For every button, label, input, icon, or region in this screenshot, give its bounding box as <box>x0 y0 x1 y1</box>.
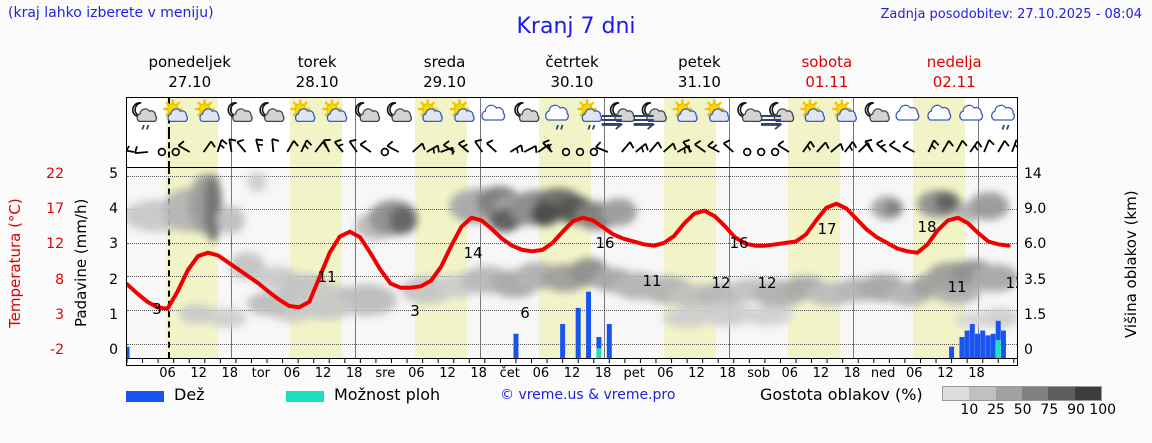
wind-barb <box>272 139 279 152</box>
x-axis-label-23: ned <box>871 366 896 381</box>
wind-barb <box>350 140 357 152</box>
temperature-point-label: 16 <box>729 234 748 252</box>
wind-barb <box>510 145 522 153</box>
day-name: nedelja <box>891 52 1018 72</box>
x-axis-label-17: 12 <box>688 366 705 381</box>
day-name: torek <box>253 52 380 72</box>
wind-barb <box>890 141 901 152</box>
cloud-density-field <box>127 172 1018 328</box>
weather-icon-sun-cloud-rain <box>577 99 601 129</box>
weather-icon-sun-cloud <box>673 99 697 121</box>
meteogram-plot: 311314616111612171218111612 <box>126 167 1018 359</box>
weather-icon-cloud <box>928 105 951 120</box>
wind-barb <box>650 142 662 152</box>
temperature-point-label: 18 <box>917 218 936 236</box>
x-axis-label-2: 18 <box>221 366 238 381</box>
x-axis-label-6: 18 <box>346 366 363 381</box>
temperature-point-label: 3 <box>152 300 162 318</box>
x-axis-label-19: sob <box>747 366 770 381</box>
temperature-point-label: 11 <box>642 272 661 290</box>
wind-barb <box>817 142 829 152</box>
weather-icon-cloud-rain <box>546 105 569 129</box>
weather-icon-moon-cloud <box>388 103 412 122</box>
weather-icon-sun-cloud <box>291 99 315 121</box>
day-date: 28.10 <box>253 72 380 92</box>
weather-icon-cloud <box>960 105 983 120</box>
wind-barb <box>778 141 789 152</box>
wind-barb <box>956 141 967 152</box>
temperature-point-label: 16 <box>595 234 614 252</box>
showers-legend-swatch <box>286 391 324 402</box>
weather-icon-cloud <box>482 105 505 120</box>
wind-barb <box>772 149 779 156</box>
wind-barb <box>622 142 634 152</box>
day-header-petek: petek31.10 <box>636 52 763 96</box>
day-date: 01.11 <box>763 72 890 92</box>
chart-svg: 311314616111612171218111612 <box>127 168 1018 359</box>
precip-tick-1: 4 <box>102 201 118 217</box>
wind-barb <box>865 140 872 152</box>
x-axis-label-8: 06 <box>408 366 425 381</box>
weather-icon-moon-cloud <box>515 103 539 122</box>
day-header-torek: torek28.10 <box>253 52 380 96</box>
x-axis-label-21: 12 <box>813 366 830 381</box>
day-date: 30.10 <box>508 72 635 92</box>
x-axis-label-14: 18 <box>595 366 612 381</box>
weather-icon-sun-cloud <box>832 99 856 121</box>
temperature-point-label: 14 <box>463 244 482 262</box>
wind-barb <box>427 146 439 154</box>
weather-icon-moon-cloud <box>228 103 252 122</box>
day-name: sreda <box>381 52 508 72</box>
wind-barb-row <box>126 133 1018 167</box>
wind-barb <box>487 140 497 152</box>
precipitation-axis-title: Padavine (mm/h) <box>72 178 98 348</box>
wind-barb <box>845 142 857 152</box>
weather-icon-moon-cloud <box>260 103 284 122</box>
day-header-četrtek: četrtek30.10 <box>508 52 635 96</box>
wind-barb <box>127 144 134 152</box>
weather-icon-moon-cloud-fog <box>602 103 635 129</box>
wind-barb <box>998 141 1009 152</box>
wind-barb <box>256 139 263 152</box>
x-axis-label-24: 06 <box>906 366 923 381</box>
rain-legend-label: Dež <box>174 385 205 404</box>
wind-barb <box>758 149 765 156</box>
day-name: ponedeljek <box>126 52 253 72</box>
wind-barb <box>577 149 584 156</box>
wind-barb <box>724 140 734 152</box>
day-header-sreda: sreda29.10 <box>381 52 508 96</box>
x-axis-label-10: 18 <box>470 366 487 381</box>
wind-barb <box>744 149 751 156</box>
x-axis-label-13: 12 <box>564 366 581 381</box>
legend: Dež Možnost ploh © vreme.us & vreme.pro … <box>126 385 1146 421</box>
wind-barb <box>178 141 189 152</box>
last-update-text: Zadnja posodobitev: 27.10.2025 - 08:04 <box>880 7 1142 22</box>
day-name: četrtek <box>508 52 635 72</box>
day-name: sobota <box>763 52 890 72</box>
day-date: 27.10 <box>126 72 253 92</box>
wind-barb <box>381 149 388 156</box>
x-axis-label-7: sre <box>375 366 395 381</box>
x-axis-label-18: 18 <box>719 366 736 381</box>
x-axis-label-9: 12 <box>439 366 456 381</box>
wind-barb <box>204 141 215 152</box>
weather-icon-moon-fog <box>761 103 794 129</box>
wind-barb <box>563 149 570 156</box>
wind-barb <box>524 146 536 153</box>
wind-barb <box>664 143 676 152</box>
wind-barb <box>984 140 994 152</box>
weather-icon-sun-cloud <box>418 99 442 121</box>
wind-barb <box>158 149 165 156</box>
temperature-point-label: 17 <box>817 220 836 238</box>
weather-icon-cloud-rain <box>992 105 1015 129</box>
wind-barb <box>970 141 981 152</box>
cloud-height-tick-5: 0 <box>1024 342 1058 358</box>
wind-barb <box>877 140 887 152</box>
weather-icon-cloud <box>896 105 919 120</box>
cloud-ramp-step-3 <box>1022 387 1048 400</box>
wind-barb <box>928 140 938 152</box>
wind-barb <box>695 141 706 152</box>
cloud-density-ramp <box>942 386 1102 401</box>
x-axis-label-1: 12 <box>190 366 207 381</box>
cloud-height-tick-0: 14 <box>1024 166 1058 182</box>
wind-barb <box>636 144 648 153</box>
wind-barb <box>903 141 914 152</box>
wind-barb <box>1012 140 1018 152</box>
tick-marks <box>127 359 1018 366</box>
temperature-point-label: 11 <box>317 268 336 286</box>
wind-barb <box>135 146 148 153</box>
cloud-ramp-tick-2: 50 <box>1014 402 1032 418</box>
temperature-point-label: 11 <box>947 278 966 296</box>
wind-barb <box>441 148 453 155</box>
day-date: 29.10 <box>381 72 508 92</box>
copyright-link[interactable]: © vreme.us & vreme.pro <box>500 387 675 403</box>
weather-icon-moon-cloud <box>865 103 889 122</box>
cloud-ramp-step-1 <box>969 387 995 400</box>
wind-barb <box>287 141 298 152</box>
cloud-height-axis-title: Višina oblakov (km) <box>1122 172 1148 357</box>
wind-barb <box>172 149 179 156</box>
x-axis-label-20: 06 <box>782 366 799 381</box>
x-axis-label-5: 12 <box>315 366 332 381</box>
temperature-point-label: 3 <box>410 302 420 320</box>
x-axis-label-16: 06 <box>657 366 674 381</box>
temperature-axis-title: Temperatura (°C) <box>6 178 32 348</box>
cloud-ramp-tick-0: 10 <box>960 402 978 418</box>
weather-icon-sun-cloud <box>450 99 474 121</box>
cloud-ramp-step-2 <box>996 387 1022 400</box>
day-name: petek <box>636 52 763 72</box>
x-axis-tick-strip <box>126 359 1018 366</box>
temperature-point-label: 6 <box>520 304 530 322</box>
x-axis-label-3: tor <box>252 366 270 381</box>
precip-tick-2: 3 <box>102 236 118 252</box>
wind-barb <box>803 141 814 152</box>
temperature-point-label: 12 <box>757 274 776 292</box>
wind-barb <box>387 141 398 152</box>
cloud-ramp-tick-4: 90 <box>1067 402 1085 418</box>
cloud-height-tick-1: 9.0 <box>1024 201 1058 217</box>
day-header-nedelja: nedelja02.11 <box>891 52 1018 96</box>
day-date: 02.11 <box>891 72 1018 92</box>
wind-barb <box>229 139 236 152</box>
precip-tick-3: 2 <box>102 272 118 288</box>
day-date: 31.10 <box>636 72 763 92</box>
weather-icon-sun-cloud <box>163 99 187 121</box>
cloud-ramp-tick-1: 25 <box>987 402 1005 418</box>
weather-icon-svg <box>127 98 1018 133</box>
temperature-point-label: 12 <box>1005 274 1018 292</box>
wind-barb <box>591 149 598 156</box>
day-header-strip: ponedeljek27.10torek28.10sreda29.10četrt… <box>126 52 1018 96</box>
cloud-ramp-tick-5: 100 <box>1089 402 1116 418</box>
x-axis-label-4: 06 <box>284 366 301 381</box>
cloud-density-legend-label: Gostota oblakov (%) <box>760 385 923 404</box>
weather-icon-sun-cloud <box>705 99 729 121</box>
precip-tick-0: 5 <box>102 166 118 182</box>
cloud-height-tick-2: 6.0 <box>1024 236 1058 252</box>
showers-legend-label: Možnost ploh <box>334 385 440 404</box>
weather-icon-moon-cloud <box>356 103 380 122</box>
weather-icon-moon-cloud-rain <box>133 103 157 130</box>
x-axis-label-25: 12 <box>937 366 954 381</box>
wind-barb <box>360 141 371 152</box>
wind-barb <box>413 143 425 152</box>
weather-icon-sun-cloud <box>322 99 346 121</box>
weather-icon-sun-cloud <box>195 99 219 121</box>
temperature-point-label: 12 <box>711 274 730 292</box>
precip-tick-4: 1 <box>102 307 118 323</box>
x-axis-label-26: 18 <box>968 366 985 381</box>
weather-icon-sun-cloud <box>800 99 824 121</box>
cloud-ramp-step-4 <box>1048 387 1074 400</box>
wind-barb <box>475 140 482 152</box>
cloud-ramp-tick-3: 75 <box>1040 402 1058 418</box>
wind-barb <box>942 141 953 152</box>
precip-tick-5: 0 <box>102 342 118 358</box>
rain-legend-swatch <box>126 391 164 402</box>
temperature-point-label: 16 <box>1017 236 1018 254</box>
x-axis-label-11: čet <box>500 366 520 381</box>
cloud-ramp-step-5 <box>1075 387 1101 400</box>
cloud-ramp-step-0 <box>943 387 969 400</box>
wind-barb <box>831 144 843 152</box>
day-header-sobota: sobota01.11 <box>763 52 890 96</box>
x-axis-label-0: 06 <box>159 366 176 381</box>
weather-icon-row <box>126 97 1018 133</box>
x-axis-labels: 061218tor061218sre061218čet061218pet0612… <box>126 366 1018 384</box>
wind-barb <box>237 140 245 152</box>
wind-barb <box>543 140 552 152</box>
wind-barb <box>459 140 469 152</box>
weather-icon-moon-fog <box>634 103 667 129</box>
day-header-ponedeljek: ponedeljek27.10 <box>126 52 253 96</box>
x-axis-label-22: 18 <box>844 366 861 381</box>
cloud-density-ramp-ticks: 1025507590100 <box>934 402 1124 420</box>
x-axis-label-15: pet <box>624 366 645 381</box>
wind-barb <box>708 141 719 152</box>
cloud-height-tick-3: 3.5 <box>1024 272 1058 288</box>
cloud-height-tick-4: 1.5 <box>1024 307 1058 323</box>
wind-barb-svg <box>127 133 1018 167</box>
wind-barb <box>301 140 311 152</box>
wind-barb <box>218 140 227 152</box>
weather-icon-moon-cloud <box>738 103 762 122</box>
x-axis-label-12: 06 <box>533 366 550 381</box>
wind-barb <box>335 140 344 152</box>
